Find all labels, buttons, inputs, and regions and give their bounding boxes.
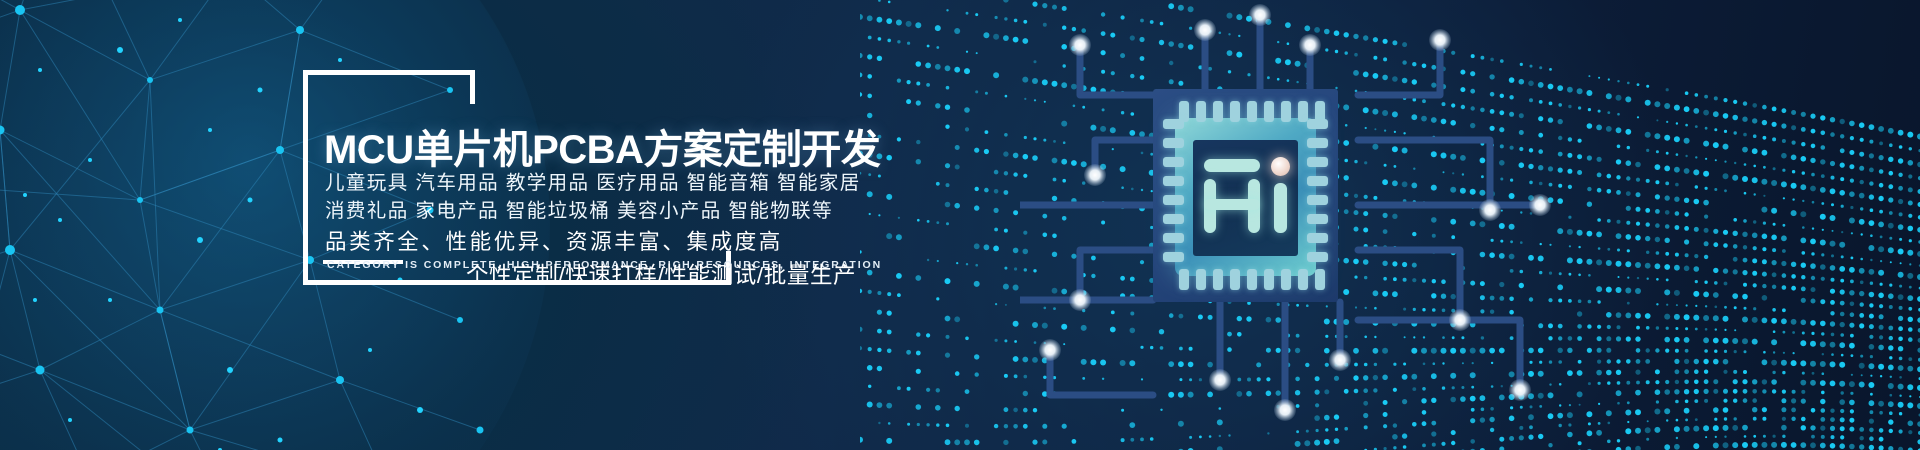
chip-pin bbox=[1163, 233, 1184, 243]
chip-pin bbox=[1307, 138, 1328, 148]
chip-pin bbox=[1264, 269, 1274, 290]
chip-pin bbox=[1196, 101, 1206, 122]
chip-pin bbox=[1163, 176, 1184, 186]
promotional-banner: MCU单片机PCBA方案定制开发 儿童玩具 汽车用品 教学用品 医疗用品 智能音… bbox=[0, 0, 1920, 450]
chip-pin bbox=[1307, 195, 1328, 205]
chip-pin bbox=[1163, 119, 1184, 129]
chip-pin bbox=[1264, 101, 1274, 122]
chip-logo bbox=[1198, 159, 1294, 233]
frame-left-border bbox=[303, 70, 308, 285]
chip-pin bbox=[1281, 269, 1291, 290]
category-list-line-2: 消费礼品 家电产品 智能垃圾桶 美容小产品 智能物联等 bbox=[325, 194, 833, 223]
chip-pin bbox=[1179, 269, 1189, 290]
chip-pin bbox=[1163, 195, 1184, 205]
category-list-line-1: 儿童玩具 汽车用品 教学用品 医疗用品 智能音箱 智能家居 bbox=[325, 166, 861, 195]
chip-pin bbox=[1298, 269, 1308, 290]
chip-pin bbox=[1247, 101, 1257, 122]
chip-pin bbox=[1230, 101, 1240, 122]
chip-pin bbox=[1163, 138, 1184, 148]
frame-top-right-stub bbox=[470, 70, 475, 104]
chip-pin bbox=[1247, 269, 1257, 290]
chip-pin bbox=[1307, 252, 1328, 262]
chip-pin bbox=[1196, 269, 1206, 290]
chip-pin bbox=[1213, 269, 1223, 290]
chip-pin bbox=[1307, 233, 1328, 243]
features-headline: 品类齐全、性能优异、资源丰富、集成度高 bbox=[325, 225, 783, 256]
chip-logo-dot bbox=[1271, 157, 1290, 176]
service-slogan: 个性定制/快速打样/性能测试/批量生产 bbox=[466, 258, 856, 290]
chip-pin bbox=[1213, 101, 1223, 122]
banner-text-block: MCU单片机PCBA方案定制开发 儿童玩具 汽车用品 教学用品 医疗用品 智能音… bbox=[303, 70, 863, 285]
chip-pin bbox=[1307, 119, 1328, 129]
frame-top-border bbox=[303, 70, 475, 75]
chip-pin bbox=[1315, 269, 1325, 290]
chip-pin bbox=[1307, 176, 1328, 186]
chip-pin bbox=[1163, 252, 1184, 262]
chip-pin bbox=[1163, 157, 1184, 167]
chip-pin bbox=[1281, 101, 1291, 122]
microchip-graphic bbox=[1153, 89, 1338, 302]
chip-pin bbox=[1307, 157, 1328, 167]
chip-pin bbox=[1307, 214, 1328, 224]
chip-pin bbox=[1163, 214, 1184, 224]
chip-pin bbox=[1298, 101, 1308, 122]
chip-pin bbox=[1230, 269, 1240, 290]
